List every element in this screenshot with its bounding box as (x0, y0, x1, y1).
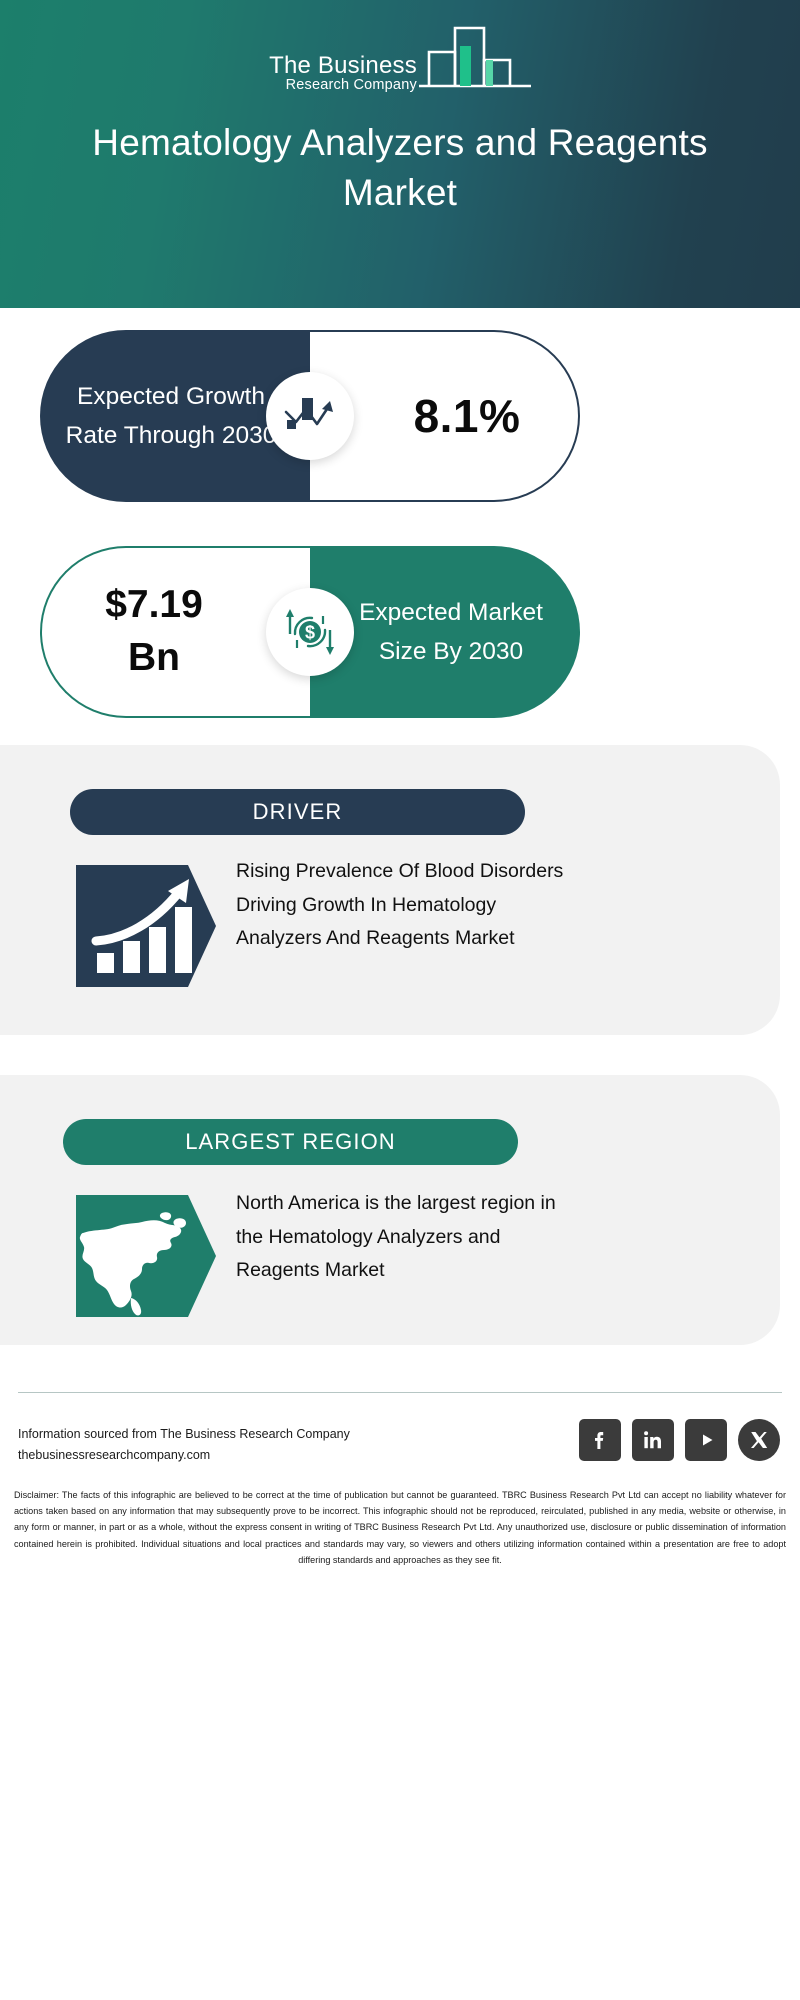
largest-region-body-text: North America is the largest region in t… (236, 1187, 566, 1288)
linkedin-icon[interactable] (632, 1419, 674, 1461)
driver-title-pill: DRIVER (70, 789, 525, 835)
driver-body-text: Rising Prevalence Of Blood Disorders Dri… (236, 855, 566, 956)
footer-divider (18, 1392, 782, 1393)
logo-line-2: Research Company (286, 78, 417, 93)
largest-region-panel: LARGEST REGION North America is the larg… (0, 1075, 780, 1345)
youtube-icon[interactable] (685, 1419, 727, 1461)
logo-wordmark: The Business Research Company (269, 54, 417, 96)
social-links (579, 1419, 780, 1461)
north-america-map-icon (76, 1195, 216, 1317)
stat-card-market-size: $7.19 Bn Expected Market Size By 2030 $ (40, 546, 580, 718)
x-twitter-icon[interactable] (738, 1419, 780, 1461)
infographic-page: The Business Research Company (0, 0, 800, 2000)
market-size-value-line1: $7.19 (105, 583, 203, 626)
footer-info: Information sourced from The Business Re… (18, 1424, 350, 1465)
driver-title: DRIVER (253, 799, 343, 825)
dollar-cycle-icon: $ (266, 588, 354, 676)
largest-region-title-pill: LARGEST REGION (63, 1119, 518, 1165)
facebook-icon[interactable] (579, 1419, 621, 1461)
bar-chart-logo-icon (419, 22, 531, 95)
header-banner: The Business Research Company (0, 0, 800, 308)
footer-website[interactable]: thebusinessresearchcompany.com (18, 1445, 350, 1466)
largest-region-title: LARGEST REGION (185, 1129, 396, 1155)
page-title: Hematology Analyzers and Reagents Market (60, 118, 740, 219)
company-logo: The Business Research Company (0, 22, 800, 96)
stat-card-growth-rate: Expected Growth Rate Through 2030 8.1% (40, 330, 580, 502)
footer-source-line: Information sourced from The Business Re… (18, 1424, 350, 1445)
driver-panel: DRIVER Rising Prevalence Of Blood Disord… (0, 745, 780, 1035)
disclaimer-text: Disclaimer: The facts of this infographi… (14, 1487, 786, 1568)
logo-line-1: The Business (269, 54, 417, 78)
market-size-value-line2: Bn (128, 636, 180, 679)
market-size-value: $7.19 Bn (105, 579, 247, 684)
svg-text:$: $ (305, 623, 315, 643)
growth-rate-value: 8.1% (368, 389, 521, 443)
growth-bars-arrow-icon (76, 865, 216, 987)
growth-chart-icon (266, 372, 354, 460)
